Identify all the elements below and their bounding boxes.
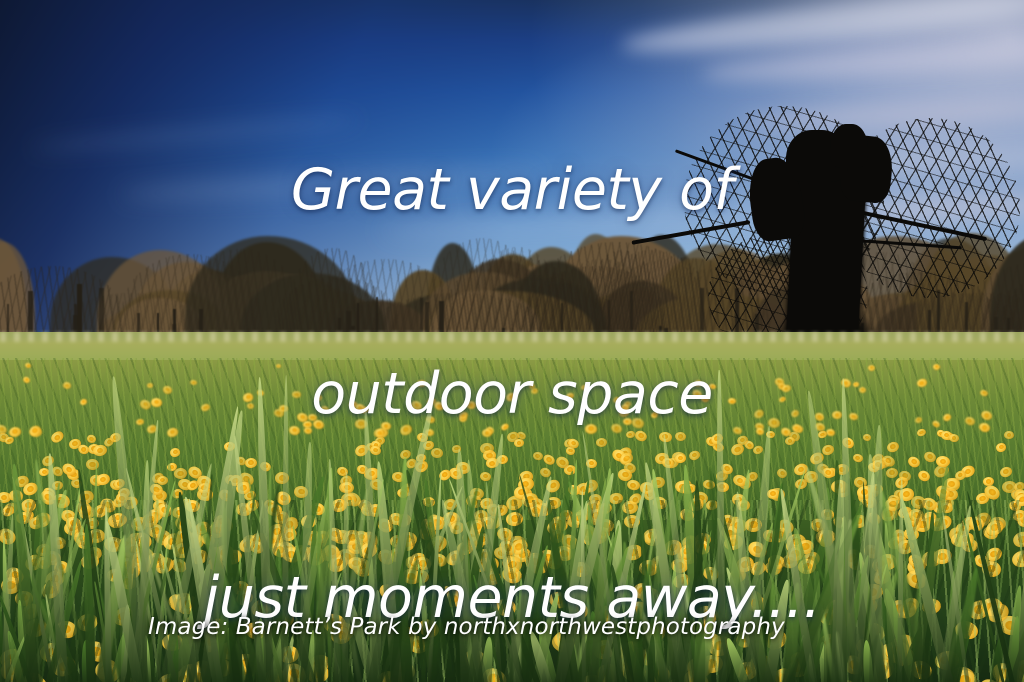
headline: Great variety of outdoor space just mome… <box>0 20 1024 682</box>
photo-poster: Great variety of outdoor space just mome… <box>0 0 1024 682</box>
headline-line-1: Great variety of <box>0 156 1024 224</box>
headline-line-2: outdoor space <box>0 360 1024 428</box>
image-credit: Image: Barnett’s Park by northxnorthwest… <box>148 612 785 642</box>
